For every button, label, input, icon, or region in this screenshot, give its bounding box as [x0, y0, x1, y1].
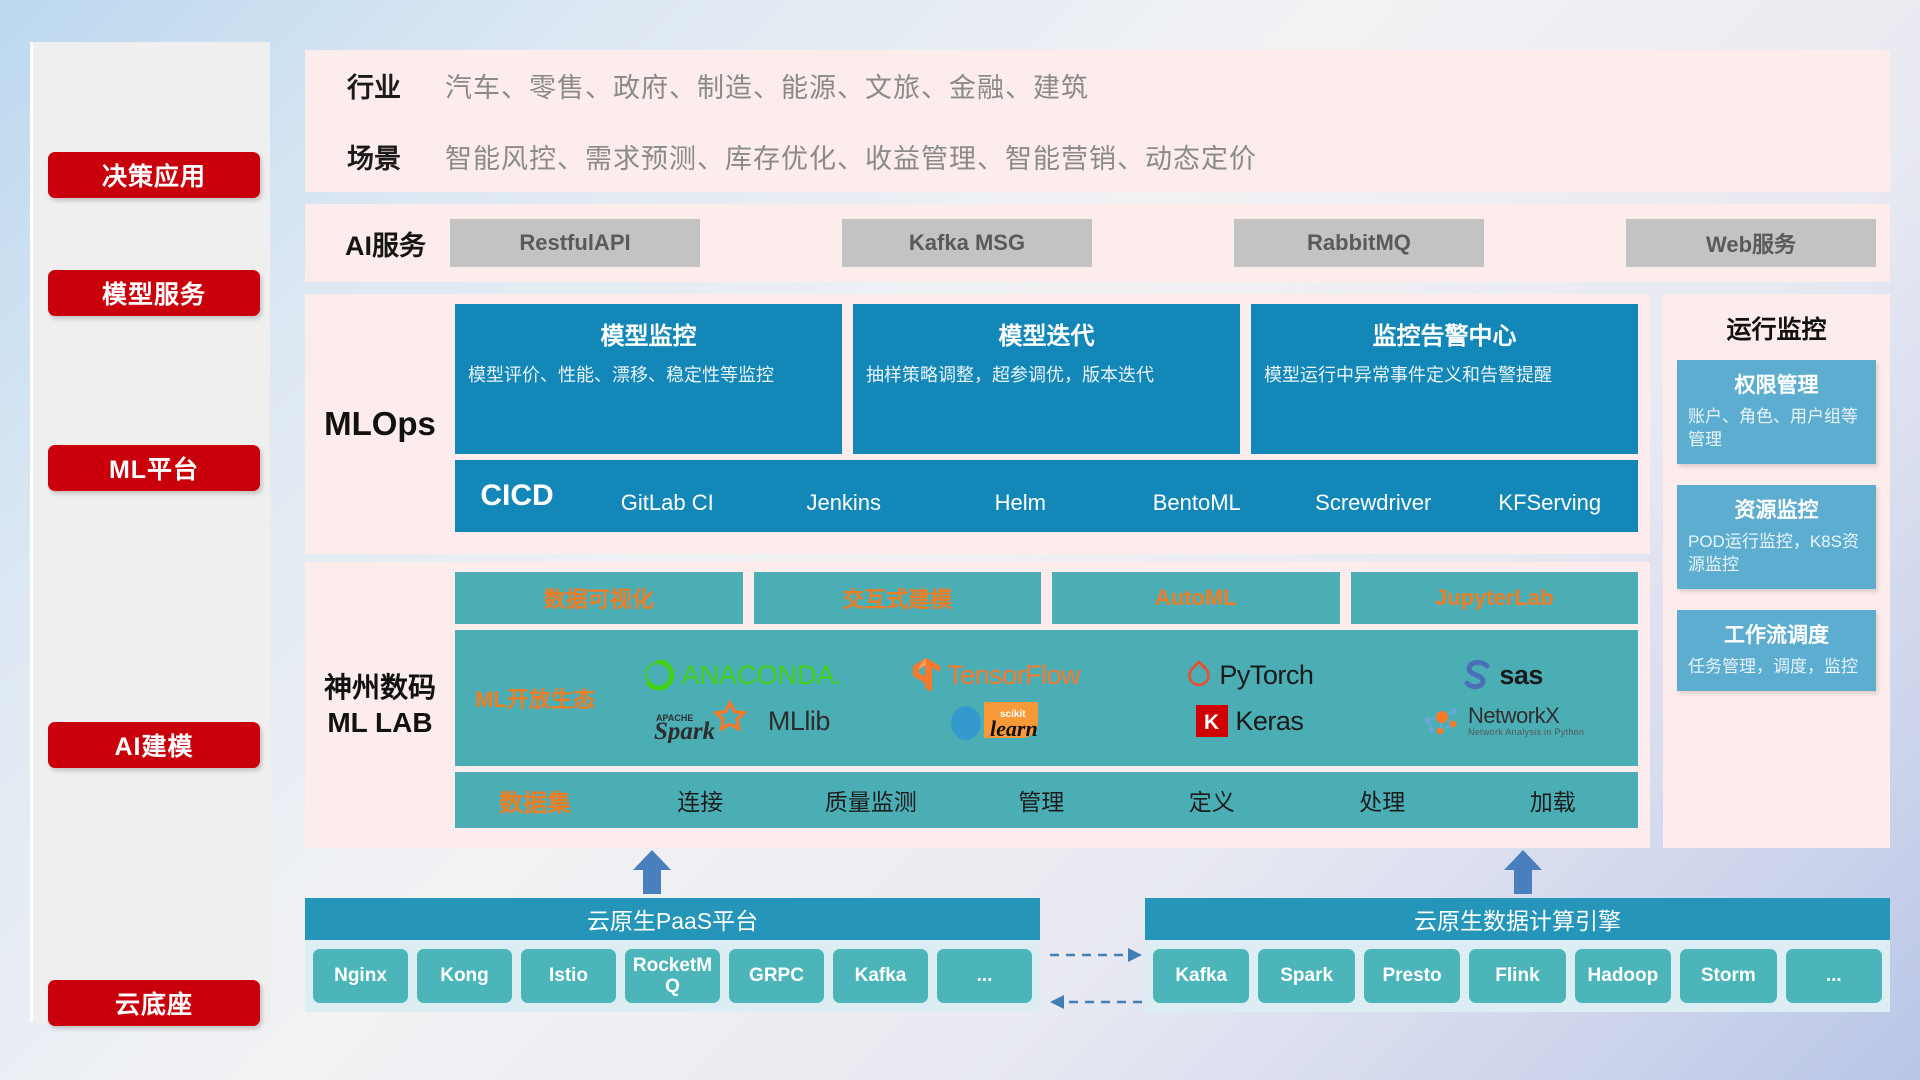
rail-item-decision-application[interactable]: 决策应用	[48, 152, 260, 198]
logo-text: MLlib	[768, 706, 830, 737]
ml-lab-label: 神州数码 ML LAB	[305, 562, 455, 848]
ecosystem-logo-grid: ANACONDA. TensorFlow	[615, 652, 1638, 744]
cloud-native-data-engine-group: 云原生数据计算引擎 Kafka Spark Presto Flink Hadoo…	[1145, 898, 1890, 1012]
dataset-strip: 数据集 连接 质量监测 管理 定义 处理 加载	[455, 772, 1638, 828]
monitor-card-permission-management[interactable]: 权限管理 账户、角色、用户组等管理	[1677, 360, 1876, 464]
ml-lab-tool-list: 数据可视化 交互式建模 AutoML JupyterLab	[455, 572, 1638, 624]
dataset-item-define[interactable]: 定义	[1127, 783, 1298, 817]
mlops-card-list: 模型监控 模型评价、性能、漂移、稳定性等监控 模型迭代 抽样策略调整，超参调优，…	[455, 304, 1638, 454]
anaconda-icon	[642, 658, 676, 692]
industry-scenario-band: 行业 汽车、零售、政府、制造、能源、文旅、金融、建筑 场景 智能风控、需求预测、…	[305, 50, 1890, 192]
keras-logo[interactable]: K Keras	[1195, 704, 1303, 738]
rail-item-label: AI建模	[114, 727, 193, 763]
cicd-title: CICD	[455, 479, 579, 513]
card-desc: 账户、角色、用户组等管理	[1688, 406, 1865, 452]
card-desc: 模型运行中异常事件定义和告警提醒	[1264, 363, 1625, 388]
mlops-band: MLOps 模型监控 模型评价、性能、漂移、稳定性等监控 模型迭代 抽样策略调整…	[305, 294, 1650, 554]
ml-lab-label-line2: ML LAB	[324, 705, 436, 740]
card-title: 权限管理	[1688, 369, 1865, 399]
rail-item-cloud-foundation[interactable]: 云底座	[48, 980, 260, 1026]
cicd-item-gitlab-ci[interactable]: GitLab CI	[579, 490, 756, 515]
cloud-paas-chip-list: Nginx Kong Istio RocketMQ GRPC Kafka ...	[305, 940, 1040, 1012]
lab-tool-interactive-modeling[interactable]: 交互式建模	[754, 572, 1042, 624]
ml-open-ecosystem-label: ML开放生态	[455, 682, 615, 714]
dataset-item-load[interactable]: 加载	[1468, 783, 1639, 817]
monitor-card-workflow-scheduling[interactable]: 工作流调度 任务管理，调度，监控	[1677, 610, 1876, 691]
cloud-data-engine-chip-list: Kafka Spark Presto Flink Hadoop Storm ..…	[1145, 940, 1890, 1012]
cloud-chip-istio[interactable]: Istio	[521, 949, 616, 1003]
mlops-content: 模型监控 模型评价、性能、漂移、稳定性等监控 模型迭代 抽样策略调整，超参调优，…	[455, 294, 1650, 554]
ai-service-chip-restfulapi[interactable]: RestfulAPI	[450, 219, 700, 267]
runtime-monitoring-title: 运行监控	[1677, 310, 1876, 346]
cicd-item-helm[interactable]: Helm	[932, 490, 1109, 515]
runtime-monitoring-panel: 运行监控 权限管理 账户、角色、用户组等管理 资源监控 POD运行监控，K8S资…	[1663, 294, 1890, 848]
networkx-tagline: Network Analysis in Python	[1468, 727, 1584, 737]
cloud-chip-kafka[interactable]: Kafka	[833, 949, 928, 1003]
ai-service-label: AI服务	[305, 224, 450, 263]
card-desc: POD运行监控，K8S资源监控	[1688, 531, 1865, 577]
card-title: 监控告警中心	[1264, 316, 1625, 351]
cloud-chip-rocketmq[interactable]: RocketMQ	[625, 949, 720, 1003]
lab-tool-jupyterlab[interactable]: JupyterLab	[1351, 572, 1639, 624]
bidirectional-link-arrows	[1048, 940, 1144, 1020]
layer-rail: 决策应用 模型服务 ML平台 AI建模 云底座	[30, 42, 270, 1022]
architecture-diagram: 决策应用 模型服务 ML平台 AI建模 云底座 行业 汽车、零售、政府、制造、能…	[0, 0, 1920, 1080]
lab-tool-automl[interactable]: AutoML	[1052, 572, 1340, 624]
ai-service-chip-rabbitmq[interactable]: RabbitMQ	[1234, 219, 1484, 267]
industry-row: 行业 汽车、零售、政府、制造、能源、文旅、金融、建筑	[305, 50, 1890, 121]
cicd-item-bentoml[interactable]: BentoML	[1109, 490, 1286, 515]
rail-item-label: 决策应用	[102, 157, 206, 193]
ml-lab-content: 数据可视化 交互式建模 AutoML JupyterLab ML开放生态	[455, 562, 1650, 848]
card-title: 模型迭代	[866, 316, 1227, 351]
card-desc: 任务管理，调度，监控	[1688, 656, 1865, 679]
logo-text: ANACONDA.	[682, 660, 843, 691]
svg-text:K: K	[1204, 711, 1219, 734]
sas-logo[interactable]: sas	[1463, 659, 1543, 691]
mlops-label: MLOps	[305, 294, 455, 554]
cicd-item-screwdriver[interactable]: Screwdriver	[1285, 490, 1462, 515]
rail-item-model-service[interactable]: 模型服务	[48, 270, 260, 316]
ml-open-ecosystem-strip: ML开放生态 ANACONDA.	[455, 630, 1638, 766]
cicd-item-kfserving[interactable]: KFServing	[1462, 490, 1639, 515]
pytorch-icon	[1185, 659, 1213, 691]
data-chip-more[interactable]: ...	[1786, 949, 1882, 1003]
sas-icon	[1463, 659, 1493, 691]
card-desc: 模型评价、性能、漂移、稳定性等监控	[468, 363, 829, 388]
mlops-card-model-monitoring[interactable]: 模型监控 模型评价、性能、漂移、稳定性等监控	[455, 304, 842, 454]
ai-service-chip-list: RestfulAPI Kafka MSG RabbitMQ Web服务	[450, 219, 1890, 267]
dataset-item-process[interactable]: 处理	[1297, 783, 1468, 817]
lab-tool-data-visualization[interactable]: 数据可视化	[455, 572, 743, 624]
rail-item-label: ML平台	[109, 450, 199, 486]
up-arrow-paas	[629, 848, 675, 894]
scenario-value: 智能风控、需求预测、库存优化、收益管理、智能营销、动态定价	[445, 137, 1257, 176]
logo-text: PyTorch	[1219, 660, 1313, 691]
industry-key: 行业	[305, 66, 445, 105]
cicd-item-list: GitLab CI Jenkins Helm BentoML Screwdriv…	[579, 476, 1638, 515]
svg-text:learn: learn	[990, 716, 1038, 741]
logo-text: Keras	[1235, 706, 1303, 737]
logo-text: TensorFlow	[947, 660, 1080, 691]
dataset-item-quality-monitoring[interactable]: 质量监测	[786, 783, 957, 817]
cloud-paas-title: 云原生PaaS平台	[305, 898, 1040, 940]
networkx-icon	[1422, 704, 1462, 738]
scenario-row: 场景 智能风控、需求预测、库存优化、收益管理、智能营销、动态定价	[305, 121, 1890, 192]
tool-label: 交互式建模	[842, 582, 952, 614]
data-chip-storm[interactable]: Storm	[1680, 949, 1776, 1003]
cicd-strip: CICD GitLab CI Jenkins Helm BentoML Scre…	[455, 460, 1638, 532]
dataset-item-manage[interactable]: 管理	[956, 783, 1127, 817]
data-chip-hadoop[interactable]: Hadoop	[1575, 949, 1671, 1003]
mlops-card-alert-center[interactable]: 监控告警中心 模型运行中异常事件定义和告警提醒	[1251, 304, 1638, 454]
monitor-card-resource-monitoring[interactable]: 资源监控 POD运行监控，K8S资源监控	[1677, 485, 1876, 589]
mlops-card-model-iteration[interactable]: 模型迭代 抽样策略调整，超参调优，版本迭代	[853, 304, 1240, 454]
ml-lab-label-line1: 神州数码	[324, 670, 436, 705]
dataset-item-list: 连接 质量监测 管理 定义 处理 加载	[615, 783, 1638, 817]
dataset-title: 数据集	[455, 783, 615, 818]
svg-text:Spark: Spark	[654, 718, 716, 743]
rail-item-ml-platform[interactable]: ML平台	[48, 445, 260, 491]
rail-item-ai-modeling[interactable]: AI建模	[48, 722, 260, 768]
logo-text: sas	[1499, 660, 1543, 691]
ai-service-band: AI服务 RestfulAPI Kafka MSG RabbitMQ Web服务	[305, 204, 1890, 282]
chip-label: RabbitMQ	[1307, 230, 1411, 256]
chip-label: RestfulAPI	[519, 230, 630, 256]
tensorflow-icon	[911, 657, 941, 693]
cicd-item-jenkins[interactable]: Jenkins	[756, 490, 933, 515]
networkx-logo[interactable]: NetworkX Network Analysis in Python	[1422, 704, 1584, 738]
chip-label: Kafka MSG	[909, 230, 1025, 256]
anaconda-logo[interactable]: ANACONDA.	[642, 658, 843, 692]
data-chip-kafka[interactable]: Kafka	[1153, 949, 1249, 1003]
data-chip-flink[interactable]: Flink	[1469, 949, 1565, 1003]
cloud-native-paas-group: 云原生PaaS平台 Nginx Kong Istio RocketMQ GRPC…	[305, 898, 1040, 1012]
card-title: 工作流调度	[1688, 619, 1865, 649]
rail-item-label: 模型服务	[102, 275, 206, 311]
scikit-learn-logo[interactable]: scikit learn	[948, 698, 1044, 744]
card-desc: 抽样策略调整，超参调优，版本迭代	[866, 363, 1227, 388]
ml-lab-band: 神州数码 ML LAB 数据可视化 交互式建模 AutoML JupyterLa…	[305, 562, 1650, 848]
card-title: 资源监控	[1688, 494, 1865, 524]
scenario-key: 场景	[305, 137, 445, 176]
scikit-learn-icon: scikit learn	[948, 698, 1044, 744]
cloud-data-engine-title: 云原生数据计算引擎	[1145, 898, 1890, 940]
data-chip-presto[interactable]: Presto	[1364, 949, 1460, 1003]
spark-icon: APACHE Spark	[654, 699, 762, 743]
up-arrow-data-engine	[1500, 848, 1546, 894]
chip-label: Web服务	[1706, 227, 1796, 259]
tool-label: AutoML	[1155, 585, 1237, 611]
dataset-item-connect[interactable]: 连接	[615, 783, 786, 817]
tool-label: JupyterLab	[1435, 585, 1554, 611]
cloud-chip-kong[interactable]: Kong	[417, 949, 512, 1003]
tensorflow-logo[interactable]: TensorFlow	[911, 657, 1080, 693]
ai-service-chip-web-service[interactable]: Web服务	[1626, 219, 1876, 267]
pytorch-logo[interactable]: PyTorch	[1185, 659, 1313, 691]
keras-icon: K	[1195, 704, 1229, 738]
data-chip-spark[interactable]: Spark	[1258, 949, 1354, 1003]
rail-item-label: 云底座	[115, 985, 193, 1021]
cloud-chip-grpc[interactable]: GRPC	[729, 949, 824, 1003]
tool-label: 数据可视化	[544, 582, 654, 614]
industry-value: 汽车、零售、政府、制造、能源、文旅、金融、建筑	[445, 66, 1089, 105]
logo-text: NetworkX	[1468, 705, 1584, 727]
card-title: 模型监控	[468, 316, 829, 351]
ai-service-chip-kafka-msg[interactable]: Kafka MSG	[842, 219, 1092, 267]
cloud-chip-nginx[interactable]: Nginx	[313, 949, 408, 1003]
spark-mllib-logo[interactable]: APACHE Spark MLlib	[654, 699, 830, 743]
cloud-chip-more[interactable]: ...	[937, 949, 1032, 1003]
